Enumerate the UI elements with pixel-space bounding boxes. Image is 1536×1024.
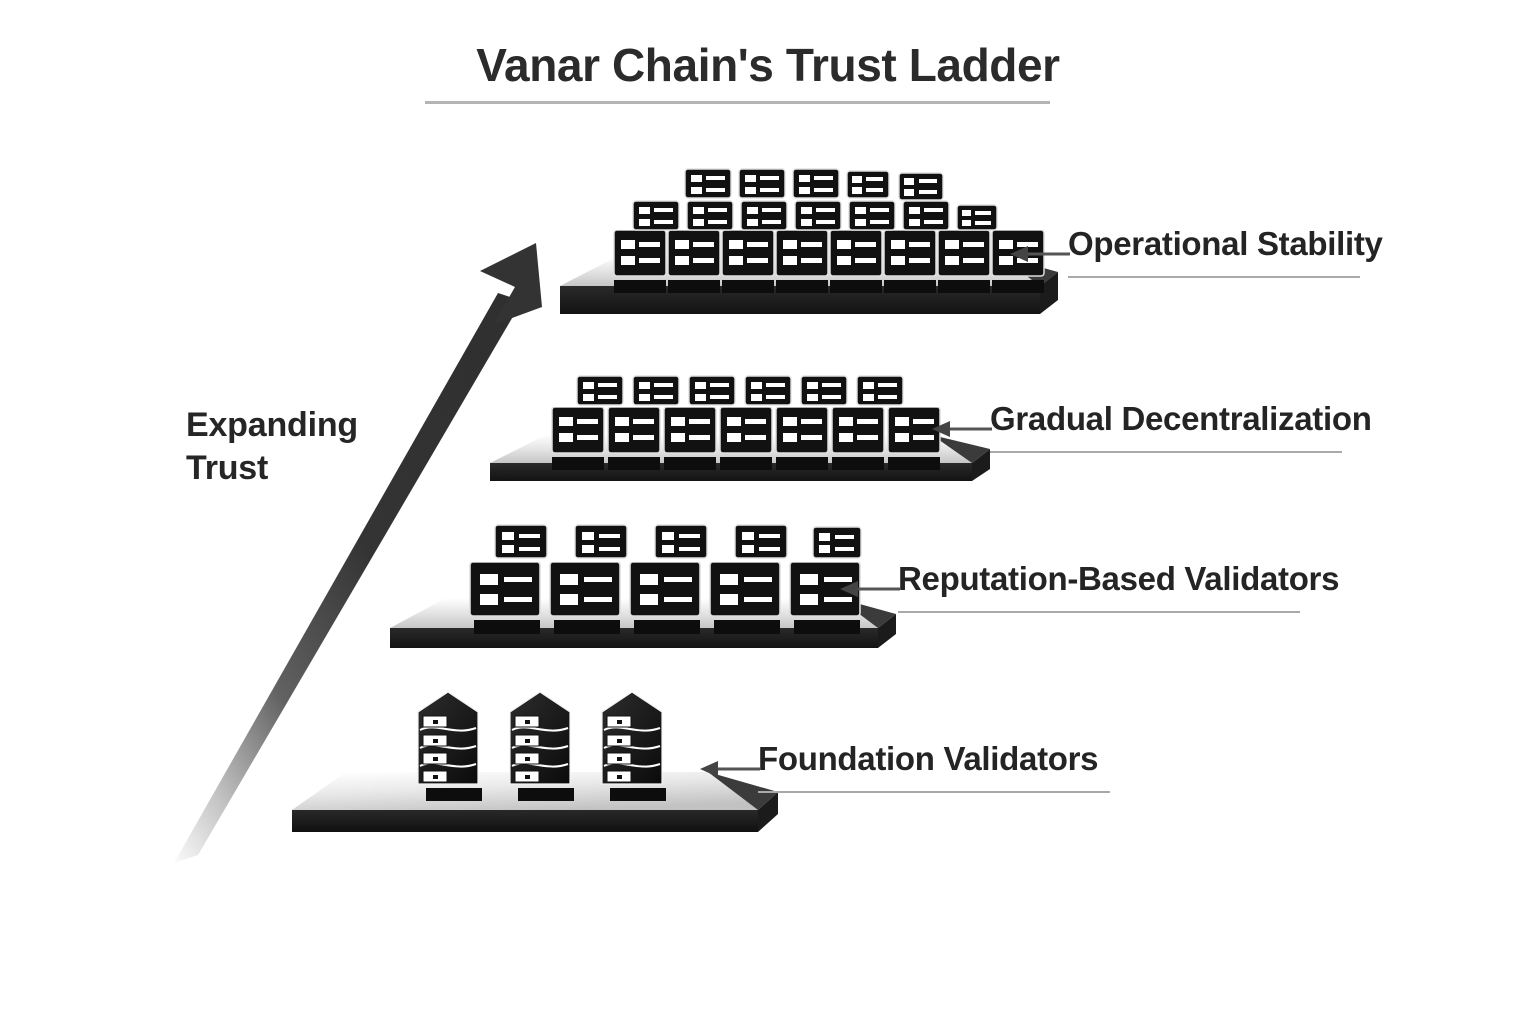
validator-node (468, 562, 544, 643)
callout-label: Foundation Validators (758, 740, 1098, 778)
validator-node (612, 230, 670, 303)
left-arrow-icon (932, 417, 994, 441)
validator-node-small (574, 524, 628, 565)
validator-node (788, 562, 864, 643)
validator-node-small (848, 200, 896, 237)
validator-rack (406, 690, 498, 807)
tier-operational-stability (548, 168, 1068, 333)
validator-node-small (576, 375, 624, 412)
callout-label: Operational Stability (1068, 225, 1383, 263)
validator-node (550, 407, 608, 480)
validator-node (718, 407, 776, 480)
validator-node-small (740, 200, 788, 237)
tier-reputation-based-validators (382, 520, 902, 655)
callout-underline (758, 791, 1110, 793)
validator-node-small (856, 375, 904, 412)
validator-node-small (846, 170, 890, 205)
left-arrow-icon (1010, 242, 1072, 266)
validator-rack (498, 690, 590, 807)
validator-node (774, 230, 832, 303)
callout-underline (898, 611, 1300, 613)
validator-node (548, 562, 624, 643)
validator-node (774, 407, 832, 480)
validator-node-small (684, 168, 732, 205)
validator-node (720, 230, 778, 303)
validator-node (708, 562, 784, 643)
validator-node-small (632, 375, 680, 412)
validator-node-small (956, 204, 998, 237)
callout-underline (1068, 276, 1360, 278)
validator-node-small (688, 375, 736, 412)
diagram-canvas: Vanar Chain's Trust Ladder Expanding Tru… (0, 0, 1536, 1024)
title-underline (425, 101, 1050, 104)
validator-node (882, 230, 940, 303)
tier-gradual-decentralization (480, 363, 1000, 488)
validator-node (666, 230, 724, 303)
validator-node-small (812, 526, 862, 565)
validator-node (606, 407, 664, 480)
validator-rack (590, 690, 682, 807)
validator-node (830, 407, 888, 480)
validator-node-small (800, 375, 848, 412)
validator-node-small (898, 172, 944, 207)
callout-label: Gradual Decentralization (990, 400, 1372, 438)
validator-node-small (792, 168, 840, 205)
validator-node-small (686, 200, 734, 237)
validator-node (662, 407, 720, 480)
validator-node-small (744, 375, 792, 412)
validator-node-small (794, 200, 842, 237)
left-arrow-icon (840, 577, 902, 601)
callout-underline (990, 451, 1342, 453)
validator-node (828, 230, 886, 303)
validator-node (628, 562, 704, 643)
validator-node-small (494, 524, 548, 565)
validator-node-small (734, 524, 788, 565)
validator-node-small (654, 524, 708, 565)
validator-node (990, 230, 1048, 303)
page-title: Vanar Chain's Trust Ladder (0, 38, 1536, 92)
validator-node-small (738, 168, 786, 205)
left-arrow-icon (700, 757, 762, 781)
callout-label: Reputation-Based Validators (898, 560, 1339, 598)
validator-node (936, 230, 994, 303)
validator-node-small (632, 200, 680, 237)
